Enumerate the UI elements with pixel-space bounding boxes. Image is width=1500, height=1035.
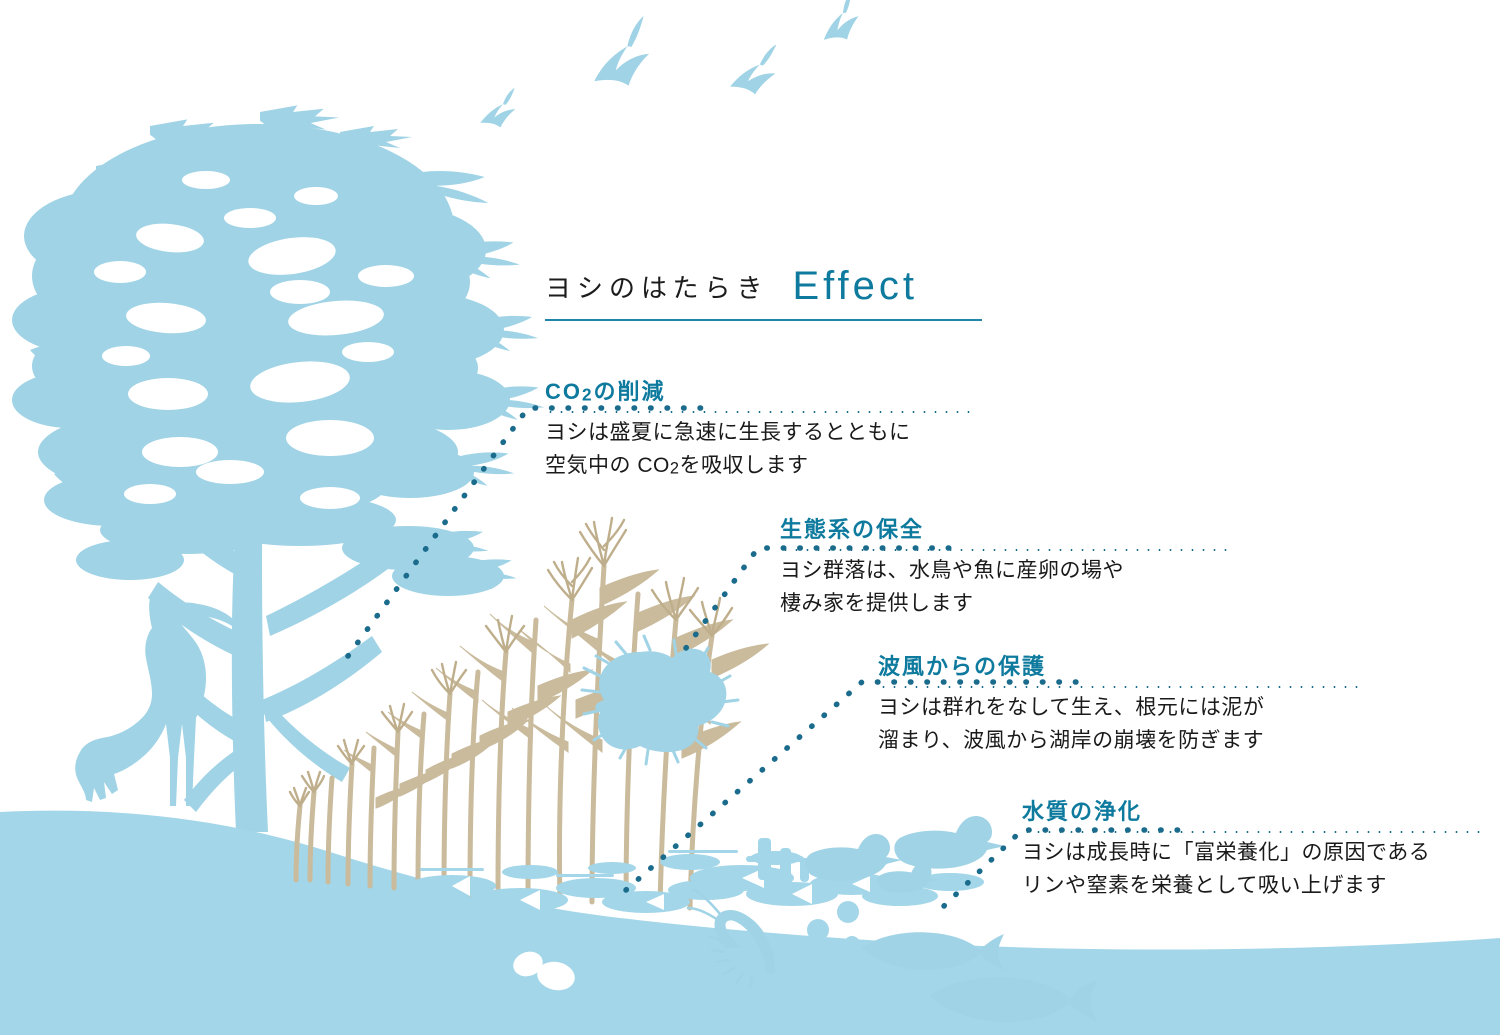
- callout-body-line: リンや窒素を栄養として吸い上げます: [1022, 870, 1482, 903]
- callout-wave-wind-protection: 波風からの保護 ヨシは群れをなして生え、根元には泥が 溜まり、波風から湖岸の崩壊…: [878, 655, 1358, 757]
- callout-body-line: 溜まり、波風から湖岸の崩壊を防ぎます: [878, 725, 1358, 758]
- callout-body-line: ヨシは成長時に「富栄養化」の原因である: [1022, 837, 1482, 870]
- callout-dotted-rule-co2: [545, 410, 975, 414]
- callout-dotted-rule-waveprotect: [878, 685, 1358, 689]
- callout-co2-reduction: CO2の削減 ヨシは盛夏に急速に生長するとともに 空気中の CO2を吸収します: [545, 380, 975, 482]
- callout-water-purification: 水質の浄化 ヨシは成長時に「富栄養化」の原因である リンや窒素を栄養として吸い上…: [1022, 800, 1482, 902]
- infographic-canvas: ヨシのはたらき Effect CO2の削減 ヨシは盛夏に急速に生長するとともに …: [0, 0, 1500, 1035]
- callout-body-line: 空気中の CO2を吸収します: [545, 450, 975, 483]
- callout-heading-purification: 水質の浄化: [1022, 800, 1482, 824]
- callout-heading-ecosystem: 生態系の保全: [780, 518, 1230, 542]
- callout-body-waveprotect: ヨシは群れをなして生え、根元には泥が 溜まり、波風から湖岸の崩壊を防ぎます: [878, 692, 1358, 757]
- callout-body-purification: ヨシは成長時に「富栄養化」の原因である リンや窒素を栄養として吸い上げます: [1022, 837, 1482, 902]
- page-title-jp: ヨシのはたらき: [545, 268, 768, 305]
- callout-body-line: ヨシ群落は、水鳥や魚に産卵の場や: [780, 555, 1230, 588]
- callout-body-ecosystem: ヨシ群落は、水鳥や魚に産卵の場や 棲み家を提供します: [780, 555, 1230, 620]
- page-title-en: Effect: [792, 264, 918, 309]
- callout-dotted-rule-purification: [1022, 830, 1482, 834]
- text-overlay: ヨシのはたらき Effect CO2の削減 ヨシは盛夏に急速に生長するとともに …: [0, 0, 1500, 1035]
- callout-body-line: ヨシは群れをなして生え、根元には泥が: [878, 692, 1358, 725]
- callout-heading-co2: CO2の削減: [545, 380, 975, 404]
- callout-ecosystem-conservation: 生態系の保全 ヨシ群落は、水鳥や魚に産卵の場や 棲み家を提供します: [780, 518, 1230, 620]
- page-title: ヨシのはたらき Effect: [545, 262, 1105, 321]
- title-underline: [545, 319, 982, 321]
- callout-body-co2: ヨシは盛夏に急速に生長するとともに 空気中の CO2を吸収します: [545, 417, 975, 482]
- callout-heading-waveprotect: 波風からの保護: [878, 655, 1358, 679]
- callout-dotted-rule-ecosystem: [780, 548, 1230, 552]
- callout-body-line: ヨシは盛夏に急速に生長するとともに: [545, 417, 975, 450]
- callout-body-line: 棲み家を提供します: [780, 588, 1230, 621]
